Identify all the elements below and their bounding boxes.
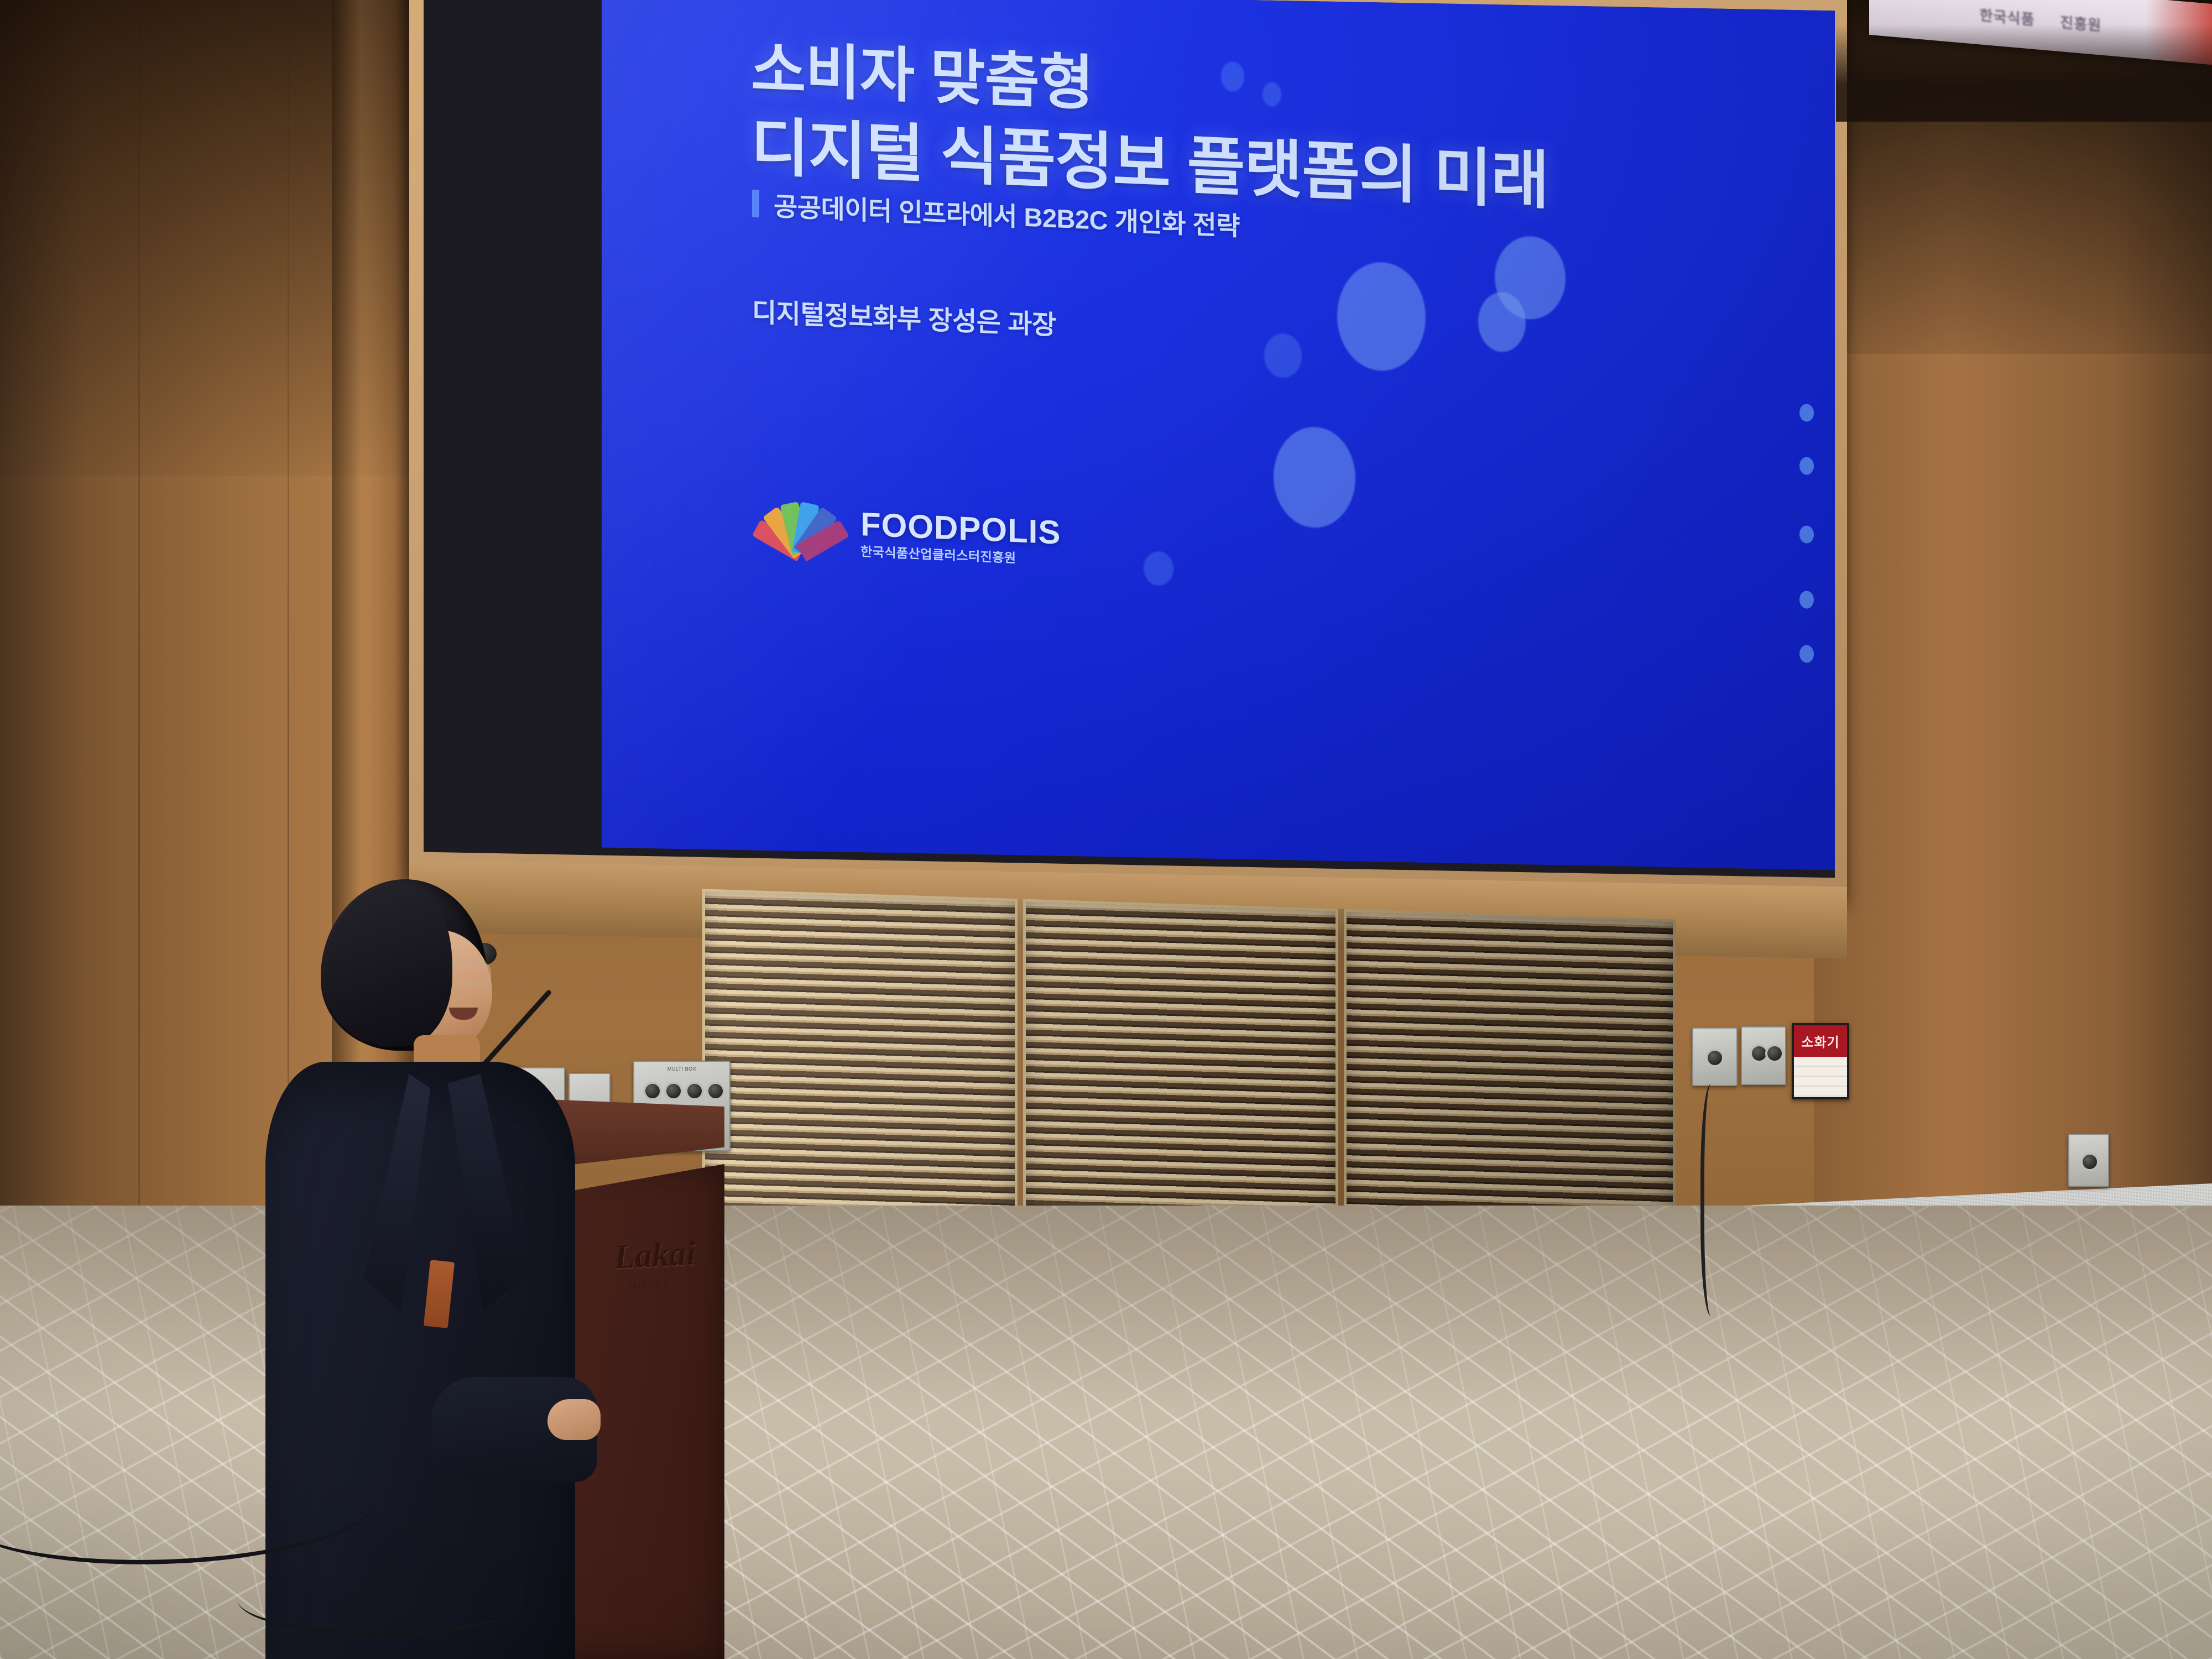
decor-blob: [1144, 551, 1173, 586]
edge-dot: [1799, 591, 1814, 608]
fire-sign-label: 소화기: [1794, 1025, 1847, 1057]
cable-right: [1700, 1084, 1726, 1316]
wall-plate-far-right[interactable]: [2068, 1134, 2109, 1187]
rainbow-fan-icon: [752, 496, 847, 557]
podium-logo-subtext: HOTEL: [629, 1279, 672, 1292]
decor-blob: [1478, 292, 1526, 353]
slat-panel: [702, 889, 1018, 1258]
accent-bar-icon: [752, 189, 759, 217]
edge-dot: [1799, 457, 1814, 474]
podium-logo-text: Lakai: [613, 1234, 697, 1277]
decor-blob: [1337, 262, 1426, 372]
banner-label-right: 진흥원: [2060, 11, 2101, 35]
decor-blob: [1264, 333, 1302, 378]
banner-accent: [2146, 0, 2212, 65]
wall-plate-right-b[interactable]: [1741, 1026, 1786, 1085]
foodpolis-logo: FOODPOLIS 한국식품산업클러스터진흥원: [752, 496, 1061, 567]
edge-dot: [1799, 404, 1814, 421]
fire-extinguisher-sign: 소화기: [1792, 1023, 1849, 1099]
slide-presenter: 디지털정보화부 장성은 과장: [752, 290, 1056, 342]
decor-blob: [1274, 426, 1355, 529]
edge-dot: [1799, 645, 1814, 662]
hand: [547, 1399, 601, 1440]
plate-label: MULTI BOX: [634, 1066, 729, 1072]
presentation-slide: 소비자 맞춤형 디지털 식품정보 플랫폼의 미래 공공데이터 인프라에서 B2B…: [602, 0, 1835, 870]
projection-screen: 소비자 맞춤형 디지털 식품정보 플랫폼의 미래 공공데이터 인프라에서 B2B…: [424, 0, 1835, 878]
wall-plate-right-a[interactable]: [1692, 1027, 1738, 1086]
conference-hall-photo: 소비자 맞춤형 디지털 식품정보 플랫폼의 미래 공공데이터 인프라에서 B2B…: [0, 0, 2212, 1659]
edge-dot: [1799, 525, 1814, 543]
fire-sign-pictogram: [1794, 1057, 1847, 1097]
projection-screen-frame: 소비자 맞춤형 디지털 식품정보 플랫폼의 미래 공공데이터 인프라에서 B2B…: [409, 0, 1847, 898]
foodpolis-wordmark: FOODPOLIS 한국식품산업클러스터진흥원: [860, 508, 1061, 566]
banner-label-left: 한국식품: [1980, 4, 2035, 29]
logo-wordmark-text: FOODPOLIS: [860, 508, 1061, 549]
floor-cable-secondary: [238, 1565, 525, 1635]
